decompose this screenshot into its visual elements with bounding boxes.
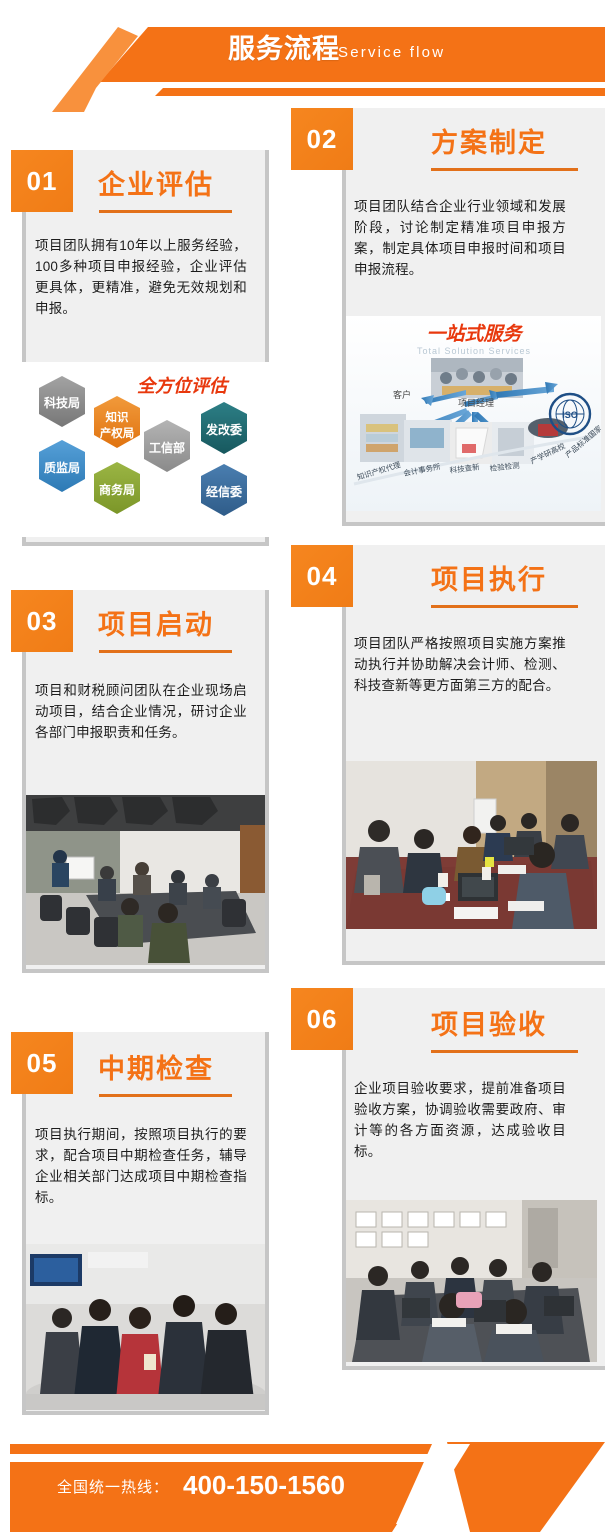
hex-node-jingxinwei: 经信委 bbox=[201, 464, 247, 516]
meeting-room-photo bbox=[26, 795, 265, 965]
svg-text:科技局: 科技局 bbox=[44, 395, 80, 410]
hex-node-keji: 科技局 bbox=[39, 376, 85, 427]
card-04-badge: 04 bbox=[291, 545, 353, 607]
card-02-badge: 02 bbox=[291, 108, 353, 170]
card-03: 03 项目启动 项目和财税顾问团队在企业现场启动项目，结合企业情况，研讨企业各部… bbox=[11, 590, 269, 973]
card-02-title: 方案制定 bbox=[431, 130, 547, 157]
page-subtitle: Service flow bbox=[338, 45, 445, 60]
hex-node-zhijianju: 质监局 bbox=[39, 440, 85, 492]
card-05-title-rule bbox=[99, 1094, 232, 1097]
svg-text:经信委: 经信委 bbox=[206, 484, 243, 499]
card-03-media-meeting-photo bbox=[26, 795, 265, 965]
card-06-badge: 06 bbox=[291, 988, 353, 1050]
card-02-media-one-stop-diagram: 一站式服务 Total Solution Services bbox=[346, 316, 601, 511]
card-01: 01 企业评估 项目团队拥有10年以上服务经验，100多种项目申报经验，企业评估… bbox=[11, 150, 269, 546]
working-session-photo bbox=[346, 761, 597, 929]
card-01-title-rule bbox=[99, 210, 232, 213]
hex-node-fagaiwei: 发改委 bbox=[201, 402, 247, 454]
one-stop-title: 一站式服务 bbox=[426, 323, 524, 345]
card-03-text: 项目和财税顾问团队在企业现场启动项目，结合企业情况，研讨企业各部门申报职责和任务… bbox=[35, 680, 247, 743]
card-06-text: 企业项目验收要求，提前准备项目验收方案，协调验收需要政府、审计等的各方面资源，达… bbox=[354, 1078, 566, 1162]
card-02: 02 方案制定 项目团队结合企业行业领域和发展阶段，讨论制定精准项目申报方案，制… bbox=[291, 108, 605, 526]
card-06-title: 项目验收 bbox=[431, 1012, 547, 1039]
card-04: 04 项目执行 项目团队严格按照项目实施方案推动执行并协助解决会计师、检测、科技… bbox=[291, 545, 605, 965]
card-04-title-rule bbox=[431, 605, 578, 608]
card-05: 05 中期检查 项目执行期间，按照项目执行的要求，配合项目中期检查任务，辅导企业… bbox=[11, 1032, 269, 1415]
site-visit-photo bbox=[26, 1244, 265, 1410]
card-01-media-hexagon-diagram: 科技局 知识 产权局 质监局 工信部 bbox=[22, 362, 269, 537]
svg-text:工信部: 工信部 bbox=[149, 440, 185, 455]
svg-text:知识: 知识 bbox=[105, 410, 129, 424]
card-04-title: 项目执行 bbox=[431, 567, 547, 594]
card-01-title: 企业评估 bbox=[98, 172, 214, 199]
page-title: 服务流程 bbox=[228, 36, 340, 63]
card-06-title-rule bbox=[431, 1050, 578, 1053]
acceptance-meeting-photo bbox=[346, 1200, 597, 1362]
card-02-title-rule bbox=[431, 168, 578, 171]
one-stop-center-label: 项目经理 bbox=[458, 397, 494, 408]
svg-text:发改委: 发改委 bbox=[205, 422, 243, 437]
iso-badge-icon: ISO bbox=[550, 394, 590, 434]
hex-diagram-title: 全方位评估 bbox=[137, 376, 230, 396]
svg-text:质监局: 质监局 bbox=[44, 460, 80, 475]
card-01-badge: 01 bbox=[11, 150, 73, 212]
card-01-text: 项目团队拥有10年以上服务经验，100多种项目申报经验，企业评估更具体，更精准，… bbox=[35, 235, 247, 319]
header-banner: 服务流程 Service flow bbox=[0, 0, 605, 112]
svg-text:商务局: 商务局 bbox=[99, 482, 135, 497]
hotline-number[interactable]: 400-150-1560 bbox=[183, 1472, 345, 1498]
card-04-text: 项目团队严格按照项目实施方案推动执行并协助解决会计师、检测、科技查新等更方面第三… bbox=[354, 633, 566, 696]
card-03-title: 项目启动 bbox=[98, 612, 214, 639]
svg-text:产权局: 产权局 bbox=[100, 426, 135, 440]
hex-node-gongxinbu: 工信部 bbox=[144, 420, 190, 472]
card-05-title: 中期检查 bbox=[98, 1056, 214, 1083]
hex-node-shangwuju: 商务局 bbox=[94, 462, 140, 514]
svg-text:ISO: ISO bbox=[562, 410, 578, 420]
one-stop-subtitle: Total Solution Services bbox=[417, 346, 531, 356]
card-06-media-acceptance-meeting-photo bbox=[346, 1200, 597, 1362]
card-03-title-rule bbox=[99, 650, 232, 653]
card-05-badge: 05 bbox=[11, 1032, 73, 1094]
hex-node-zscqj: 知识 产权局 bbox=[94, 396, 140, 448]
hotline-label: 全国统一热线： bbox=[57, 1480, 169, 1495]
card-02-text: 项目团队结合企业行业领域和发展阶段，讨论制定精准项目申报方案，制定具体项目申报时… bbox=[354, 196, 566, 280]
card-03-badge: 03 bbox=[11, 590, 73, 652]
card-06: 06 项目验收 企业项目验收要求，提前准备项目验收方案，协调验收需要政府、审计等… bbox=[291, 988, 605, 1370]
one-stop-client-label: 客户 bbox=[393, 389, 411, 400]
hexagon-assessment-diagram: 科技局 知识 产权局 质监局 工信部 bbox=[22, 362, 269, 537]
one-stop-service-diagram: 一站式服务 Total Solution Services bbox=[346, 316, 601, 511]
card-05-media-site-visit-photo bbox=[26, 1244, 265, 1410]
service-flow-infographic: 服务流程 Service flow 01 企业评估 项目团队拥有10年以上服务经… bbox=[0, 0, 605, 1538]
card-05-text: 项目执行期间，按照项目执行的要求，配合项目中期检查任务，辅导企业相关部门达成项目… bbox=[35, 1124, 247, 1208]
card-04-media-working-session-photo bbox=[346, 761, 597, 929]
